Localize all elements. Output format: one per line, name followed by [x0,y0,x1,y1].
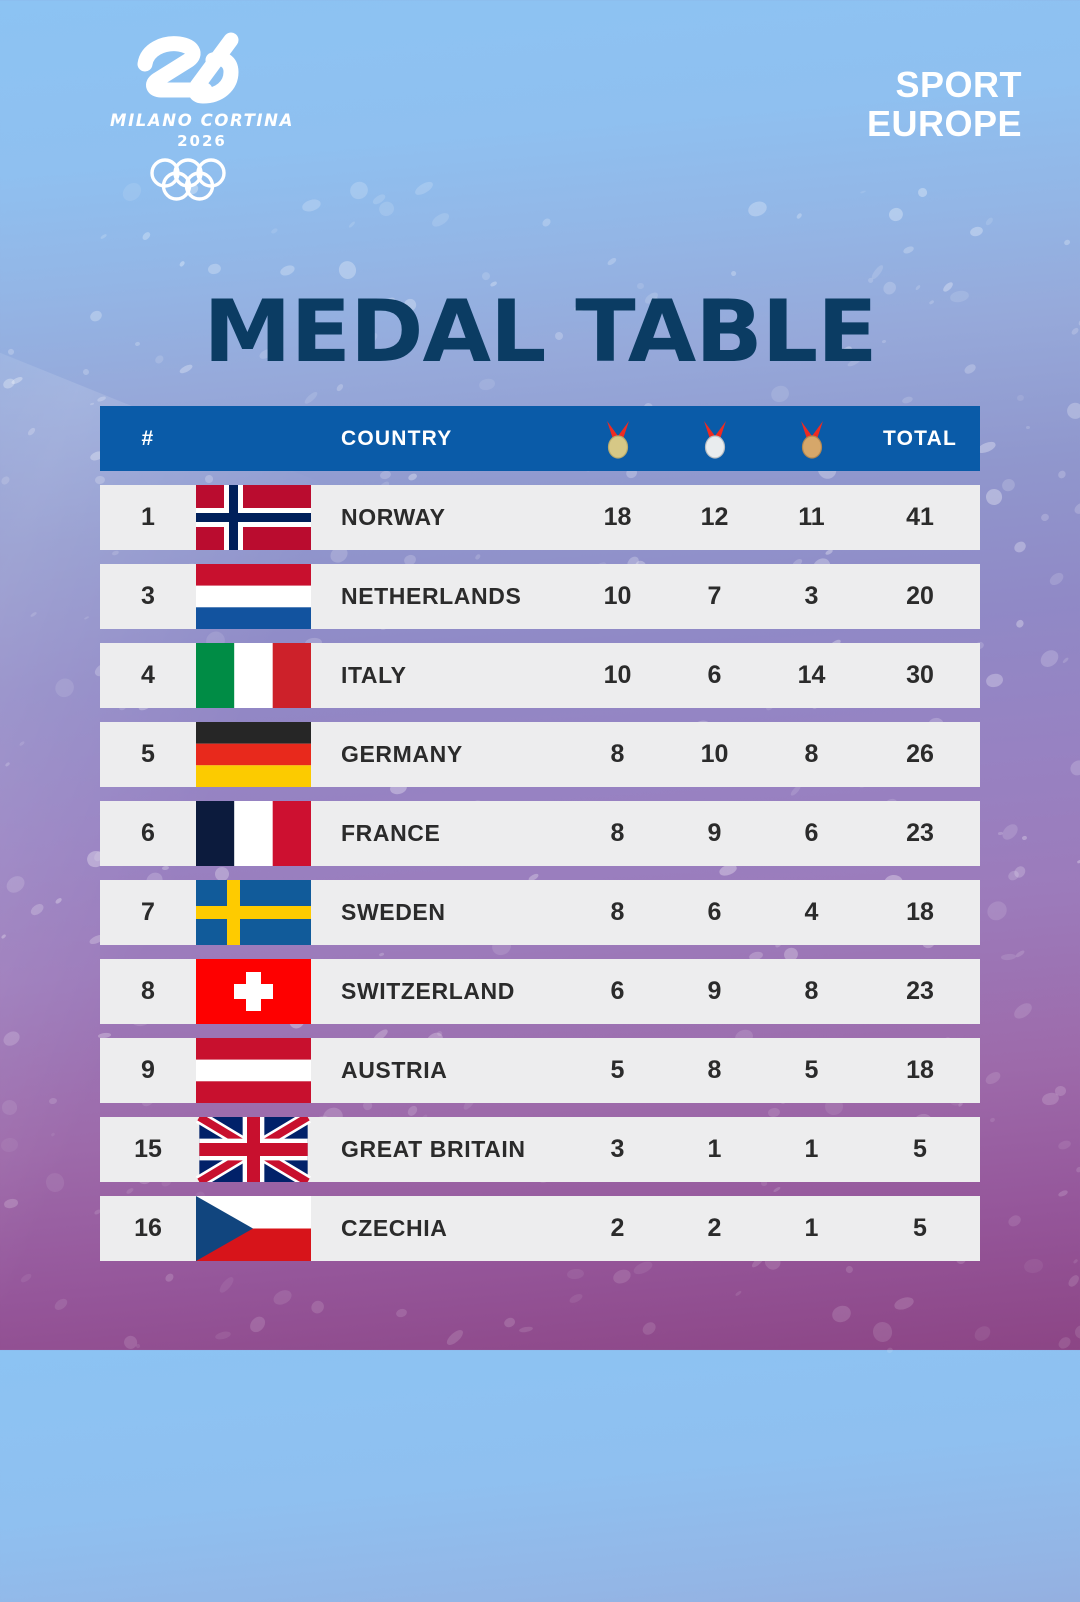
row-bronze-count: 6 [763,819,860,848]
milano-cortina-26-logo-icon [127,30,277,108]
table-row[interactable]: 1 NORWAY18121141 [100,485,980,550]
row-total-count: 5 [860,1214,980,1243]
row-rank: 5 [100,740,196,769]
row-bronze-count: 5 [763,1056,860,1085]
row-rank: 6 [100,819,196,848]
table-row[interactable]: 9 AUSTRIA58518 [100,1038,980,1103]
header-total: TOTAL [860,427,980,451]
row-silver-count: 6 [666,898,763,927]
row-rank: 4 [100,661,196,690]
table-row[interactable]: 7 SWEDEN86418 [100,880,980,945]
header-silver [666,419,763,459]
milano-cortina-logo-block: MILANO CORTINA 2026 [72,30,332,203]
page-title: MEDAL TABLE [0,282,1080,382]
row-country: NETHERLANDS [311,583,569,610]
header-flag-spacer [196,406,311,471]
row-country: SWEDEN [311,899,569,926]
row-gold-count: 8 [569,898,666,927]
row-country: ITALY [311,662,569,689]
logo-city-text: MILANO CORTINA [72,112,332,130]
table-row[interactable]: 6 FRANCE89623 [100,801,980,866]
row-total-count: 20 [860,582,980,611]
row-bronze-count: 8 [763,740,860,769]
flag-norway-icon [196,485,311,550]
row-silver-count: 9 [666,977,763,1006]
row-total-count: 30 [860,661,980,690]
row-silver-count: 12 [666,503,763,532]
row-gold-count: 2 [569,1214,666,1243]
row-rank: 9 [100,1056,196,1085]
table-row[interactable]: 5 GERMANY810826 [100,722,980,787]
row-total-count: 5 [860,1135,980,1164]
row-country: AUSTRIA [311,1057,569,1084]
row-country: GREAT BRITAIN [311,1136,569,1163]
table-body: 1 NORWAY181211413 NETHERLANDS1073204 ITA… [100,485,980,1261]
row-rank: 1 [100,503,196,532]
row-bronze-count: 14 [763,661,860,690]
row-gold-count: 18 [569,503,666,532]
row-silver-count: 6 [666,661,763,690]
table-row[interactable]: 8 SWITZERLAND69823 [100,959,980,1024]
flag-france-icon [196,801,311,866]
row-total-count: 41 [860,503,980,532]
row-silver-count: 2 [666,1214,763,1243]
publisher-line-2: EUROPE [867,105,1022,144]
row-bronze-count: 1 [763,1214,860,1243]
bronze-medal-icon [795,419,829,459]
row-total-count: 18 [860,898,980,927]
medal-table: # COUNTRY TOTAL 1 [100,406,980,1275]
row-country: NORWAY [311,504,569,531]
header-bronze [763,419,860,459]
row-silver-count: 7 [666,582,763,611]
row-rank: 16 [100,1214,196,1243]
row-gold-count: 3 [569,1135,666,1164]
row-total-count: 18 [860,1056,980,1085]
table-row[interactable]: 16 CZECHIA2215 [100,1196,980,1261]
row-country: SWITZERLAND [311,978,569,1005]
row-total-count: 23 [860,977,980,1006]
flag-sweden-icon [196,880,311,945]
flag-germany-icon [196,722,311,787]
row-bronze-count: 8 [763,977,860,1006]
flag-netherlands-icon [196,564,311,629]
logo-year-text: 2026 [72,132,332,150]
flag-switzerland-icon [196,959,311,1024]
row-gold-count: 10 [569,661,666,690]
header-gold [569,419,666,459]
table-row[interactable]: 3 NETHERLANDS107320 [100,564,980,629]
publisher-line-1: SPORT [867,66,1022,105]
row-gold-count: 8 [569,819,666,848]
row-silver-count: 10 [666,740,763,769]
row-country: GERMANY [311,741,569,768]
row-gold-count: 10 [569,582,666,611]
flag-austria-icon [196,1038,311,1103]
header-rank: # [100,427,196,451]
flag-italy-icon [196,643,311,708]
row-bronze-count: 1 [763,1135,860,1164]
row-gold-count: 5 [569,1056,666,1085]
row-silver-count: 9 [666,819,763,848]
row-bronze-count: 11 [763,503,860,532]
row-silver-count: 1 [666,1135,763,1164]
table-header-row: # COUNTRY TOTAL [100,406,980,471]
row-total-count: 23 [860,819,980,848]
table-row[interactable]: 4 ITALY1061430 [100,643,980,708]
row-gold-count: 8 [569,740,666,769]
row-bronze-count: 3 [763,582,860,611]
row-rank: 15 [100,1135,196,1164]
row-bronze-count: 4 [763,898,860,927]
row-rank: 7 [100,898,196,927]
publisher-brand: SPORT EUROPE [867,66,1022,144]
row-country: FRANCE [311,820,569,847]
flag-great-britain-icon [196,1117,311,1182]
row-gold-count: 6 [569,977,666,1006]
silver-medal-icon [698,419,732,459]
row-silver-count: 8 [666,1056,763,1085]
flag-czechia-icon [196,1196,311,1261]
row-country: CZECHIA [311,1215,569,1242]
table-row[interactable]: 15 GREAT BRITAIN3115 [100,1117,980,1182]
header-country: COUNTRY [311,427,569,451]
row-rank: 3 [100,582,196,611]
row-rank: 8 [100,977,196,1006]
gold-medal-icon [601,419,635,459]
row-total-count: 26 [860,740,980,769]
olympic-rings-icon [148,157,256,203]
